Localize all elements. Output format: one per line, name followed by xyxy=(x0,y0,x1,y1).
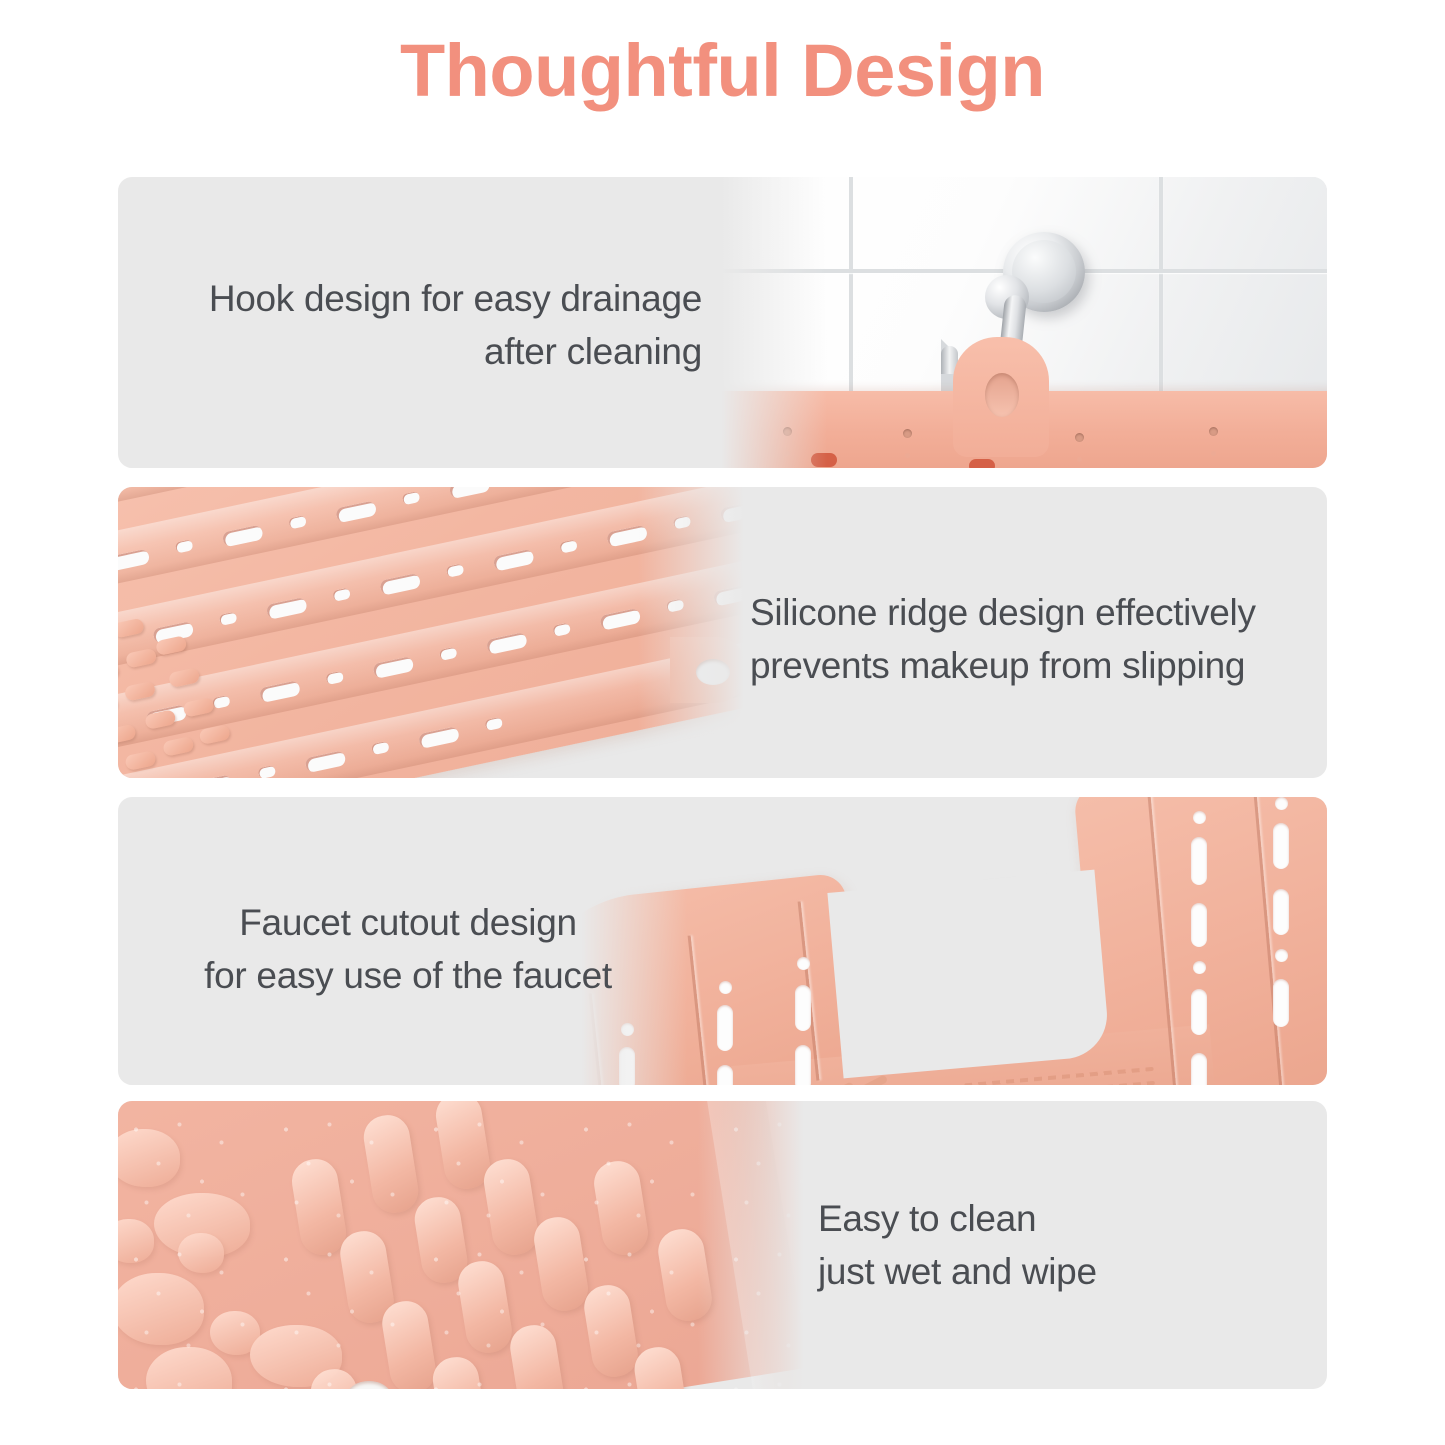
drain-slot-icon xyxy=(1191,1053,1207,1085)
mat-pin-icon xyxy=(903,429,912,438)
panel-3-image xyxy=(567,797,1327,1085)
drain-slot-icon xyxy=(1273,979,1289,1027)
faucet-cutout-icon xyxy=(827,870,1110,1079)
image-fade-edge xyxy=(638,487,758,778)
drain-slot-icon xyxy=(1191,989,1207,1035)
panel-3-caption: Faucet cutout design for easy use of the… xyxy=(158,897,658,1002)
panel-1-caption: Hook design for easy drainage after clea… xyxy=(209,273,702,378)
drain-dot-icon xyxy=(1275,949,1288,962)
drain-slot-icon xyxy=(717,1005,733,1051)
panel-1-image xyxy=(707,177,1327,468)
drain-slot-icon xyxy=(1273,823,1289,869)
drain-dot-icon xyxy=(719,981,732,994)
image-fade-edge xyxy=(707,177,827,468)
drain-slot-icon xyxy=(1191,837,1207,885)
panel-2-image xyxy=(118,487,758,778)
panel-4-image xyxy=(118,1101,818,1389)
panel-4-caption: Easy to clean just wet and wipe xyxy=(818,1193,1097,1298)
image-fade-edge xyxy=(698,1101,818,1389)
drain-slot-icon xyxy=(795,985,811,1031)
mat-pin-icon xyxy=(1209,427,1218,436)
drain-dot-icon xyxy=(1193,811,1206,824)
drain-slot-icon xyxy=(717,1065,733,1085)
drain-slot-icon xyxy=(1273,889,1289,935)
mat-pin-icon xyxy=(1075,433,1084,442)
feature-panel-silicone-ridge: Silicone ridge design effectively preven… xyxy=(118,487,1327,778)
panel-2-caption: Silicone ridge design effectively preven… xyxy=(750,587,1256,692)
drain-dot-icon xyxy=(1275,797,1288,810)
drain-slot-icon xyxy=(1191,903,1207,947)
drain-slot-icon xyxy=(969,459,995,468)
drain-dot-icon xyxy=(1193,961,1206,974)
drain-slot-icon xyxy=(795,1045,811,1085)
feature-panel-hook-design: Hook design for easy drainage after clea… xyxy=(118,177,1327,468)
feature-panel-faucet-cutout: Faucet cutout design for easy use of the… xyxy=(118,797,1327,1085)
mat-tab-hole-icon xyxy=(985,373,1019,417)
page-title: Thoughtful Design xyxy=(0,34,1445,108)
drain-dot-icon xyxy=(797,957,810,970)
feature-panel-easy-to-clean: Easy to clean just wet and wipe xyxy=(118,1101,1327,1389)
